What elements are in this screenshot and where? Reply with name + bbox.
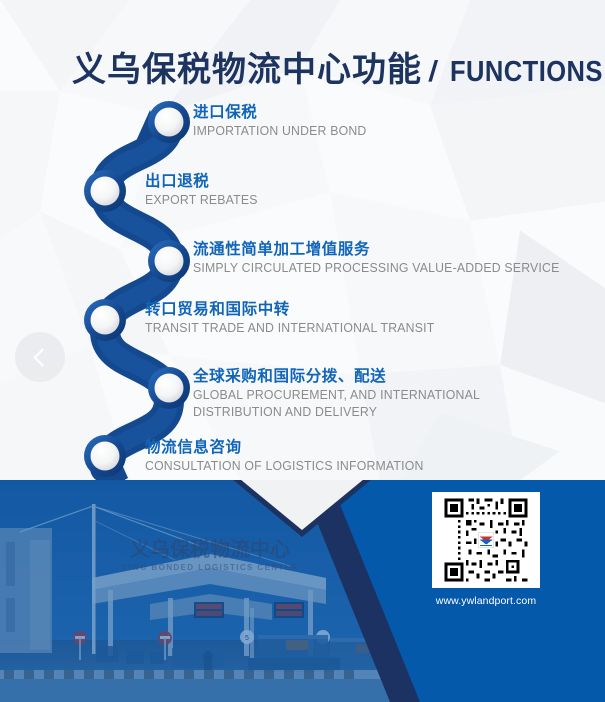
- list-item-label-en: TRANSIT TRADE AND INTERNATIONAL TRANSIT: [145, 320, 434, 337]
- list-item[interactable]: 全球采购和国际分拨、配送 GLOBAL PROCUREMENT, AND INT…: [193, 367, 492, 420]
- list-item[interactable]: 进口保税 IMPORTATION UNDER BOND: [193, 103, 374, 140]
- list-item-label-en: GLOBAL PROCUREMENT, AND INTERNATIONAL: [193, 387, 480, 404]
- qr-url-label: www.ywlandport.com: [432, 595, 540, 607]
- list-item-label-en: EXPORT REBATES: [145, 192, 258, 209]
- footer-band: 义乌保税物流中心 YIWU BONDED LOGISTICS CENTER 5: [0, 480, 605, 702]
- list-item-label-en: IMPORTATION UNDER BOND: [193, 123, 367, 140]
- list-item[interactable]: 出口退税 EXPORT REBATES: [145, 172, 262, 209]
- notch-chevron: [232, 480, 372, 537]
- list-item[interactable]: 物流信息咨询 CONSULTATION OF LOGISTICS INFORMA…: [145, 438, 435, 475]
- list-item-label-cn: 转口贸易和国际中转: [145, 300, 446, 320]
- list-item[interactable]: 流通性简单加工增值服务 SIMPLY CIRCULATED PROCESSING…: [193, 240, 575, 277]
- list-item-label-en: SIMPLY CIRCULATED PROCESSING VALUE-ADDED…: [193, 260, 559, 277]
- list-item-label-cn: 物流信息咨询: [145, 438, 435, 458]
- promo-slide: 义乌保税物流中心功能 / FUNCTIONS:: [0, 0, 605, 702]
- list-item-label-cn: 流通性简单加工增值服务: [193, 240, 575, 260]
- chevron-left-icon: [33, 348, 51, 366]
- list-item-label-cn: 出口退税: [145, 172, 262, 192]
- carousel-prev-button[interactable]: [15, 332, 65, 382]
- function-list: 进口保税 IMPORTATION UNDER BOND 出口退税 EXPORT …: [0, 0, 605, 500]
- list-item-label-cn: 进口保税: [193, 103, 374, 123]
- qr-code-icon: [432, 492, 540, 588]
- list-item-label-en-line2: DISTRIBUTION AND DELIVERY: [193, 404, 480, 421]
- list-item-label-en: CONSULTATION OF LOGISTICS INFORMATION: [145, 458, 424, 475]
- qr-block[interactable]: www.ywlandport.com: [432, 492, 540, 607]
- list-item[interactable]: 转口贸易和国际中转 TRANSIT TRADE AND INTERNATIONA…: [145, 300, 446, 337]
- list-item-label-cn: 全球采购和国际分拨、配送: [193, 367, 492, 387]
